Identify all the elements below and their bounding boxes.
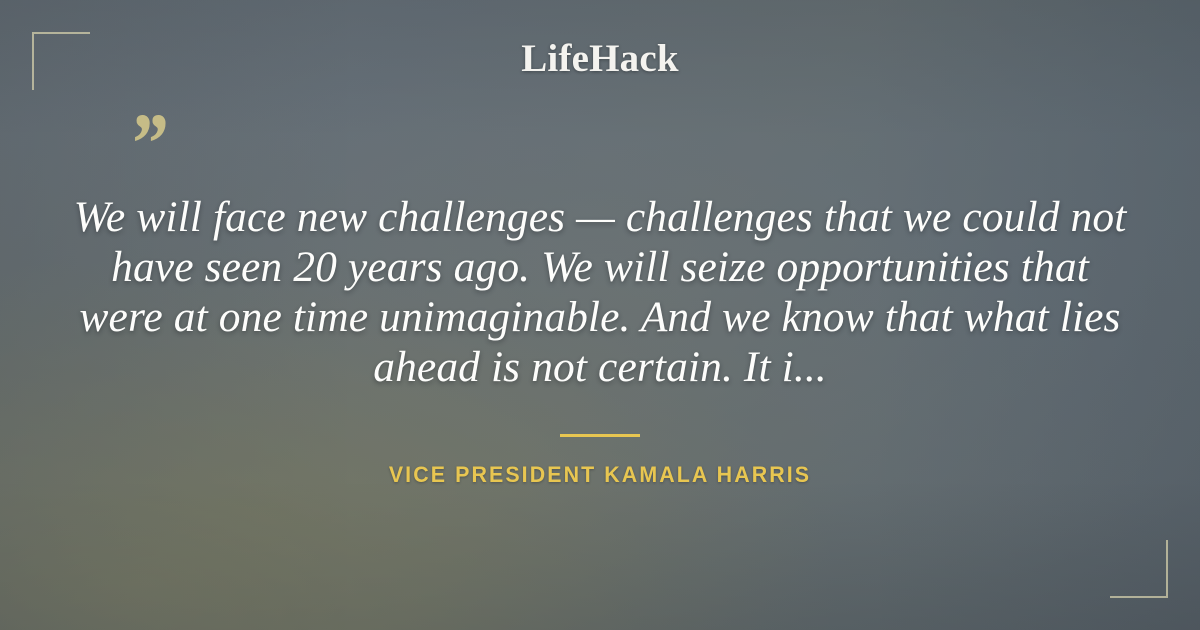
quote-line: have seen 20 years ago. We will seize op… bbox=[60, 242, 1140, 292]
quote-line: We will face new challenges — challenges… bbox=[60, 192, 1140, 242]
quote-attribution: VICE PRESIDENT KAMALA HARRIS bbox=[30, 462, 1170, 488]
gold-divider bbox=[560, 434, 640, 437]
quotation-mark-icon: ” bbox=[128, 100, 167, 186]
quote-text: We will face new challenges — challenges… bbox=[60, 192, 1140, 392]
quote-line: were at one time unimaginable. And we kn… bbox=[60, 292, 1140, 342]
lifehack-logo: LifeHack bbox=[0, 36, 1200, 81]
quote-line: ahead is not certain. It i... bbox=[60, 342, 1140, 392]
corner-bracket-bottom-right-icon bbox=[1110, 540, 1168, 598]
quote-card: LifeHack ” We will face new challenges —… bbox=[0, 0, 1200, 630]
